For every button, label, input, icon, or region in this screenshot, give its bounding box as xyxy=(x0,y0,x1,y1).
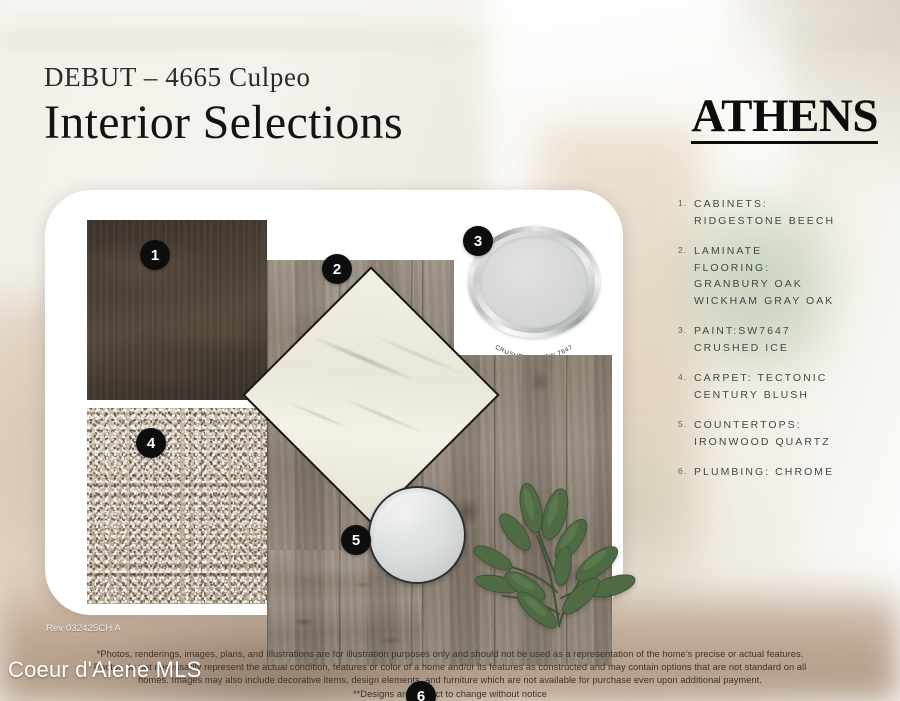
page-title: Interior Selections xyxy=(44,95,403,150)
selections-legend: 1.CABINETS:RIDGESTONE BEECH2.LAMINATEFLO… xyxy=(678,196,884,495)
project-subtitle: DEBUT – 4665 Culpeo xyxy=(44,62,403,93)
legend-item-2: 2.LAMINATEFLOORING:GRANBURY OAKWICKHAM G… xyxy=(678,243,884,309)
mls-watermark: Coeur d'Alene MLS xyxy=(8,657,201,683)
legend-item-label: PAINT:SW7647 xyxy=(694,323,884,340)
legend-item-3: 3.PAINT:SW7647CRUSHED ICE xyxy=(678,323,884,356)
legend-item-label: COUNTERTOPS: xyxy=(694,417,884,434)
legend-item-label: RIDGESTONE BEECH xyxy=(694,213,884,230)
legend-item-label: CABINETS: xyxy=(694,196,884,213)
greenery-sprig xyxy=(463,474,653,634)
legend-item-label: WICKHAM GRAY OAK xyxy=(694,293,884,310)
legend-item-label: CRUSHED ICE xyxy=(694,340,884,357)
badge-3[interactable]: 3 xyxy=(463,226,493,256)
legend-item-lines: LAMINATEFLOORING:GRANBURY OAKWICKHAM GRA… xyxy=(694,243,884,309)
swatch-cabinet-ridgestone-beech[interactable] xyxy=(87,220,267,400)
legend-item-number: 3. xyxy=(678,323,694,356)
paint-can-label-text: CRUSHED ICE SW 7647 xyxy=(494,344,575,355)
legend-item-number: 1. xyxy=(678,196,694,229)
swatch-carpet-tectonic-century-blush[interactable] xyxy=(87,408,267,604)
legend-item-label: FLOORING: xyxy=(694,260,884,277)
legend-item-lines: CABINETS:RIDGESTONE BEECH xyxy=(694,196,884,229)
material-board: CRUSHED ICE SW 7647 xyxy=(45,190,623,615)
legend-item-number: 6. xyxy=(678,464,694,481)
legend-item-1: 1.CABINETS:RIDGESTONE BEECH xyxy=(678,196,884,229)
legend-item-number: 2. xyxy=(678,243,694,309)
material-board-inner: CRUSHED ICE SW 7647 xyxy=(67,212,601,593)
swatch-chrome-plumbing[interactable] xyxy=(368,486,466,584)
legend-item-lines: CARPET: TECTONICCENTURY BLUSH xyxy=(694,370,884,403)
revision-label: Rev 032425CH A xyxy=(46,623,121,634)
legend-item-number: 4. xyxy=(678,370,694,403)
legend-item-lines: COUNTERTOPS:IRONWOOD QUARTZ xyxy=(694,417,884,450)
paint-can-color-fill xyxy=(480,236,588,328)
brand-logo: ATHENS xyxy=(691,94,878,144)
legend-item-label: CARPET: TECTONIC xyxy=(694,370,884,387)
legend-item-number: 5. xyxy=(678,417,694,450)
brand-name: ATHENS xyxy=(691,94,878,139)
legend-item-label: PLUMBING: CHROME xyxy=(694,464,884,481)
legend-item-lines: PAINT:SW7647CRUSHED ICE xyxy=(694,323,884,356)
svg-text:CRUSHED ICE SW 7647: CRUSHED ICE SW 7647 xyxy=(494,344,575,355)
badge-5[interactable]: 5 xyxy=(341,525,371,555)
paint-can-label: CRUSHED ICE SW 7647 xyxy=(462,324,606,342)
badge-4[interactable]: 4 xyxy=(136,428,166,458)
disclaimer-line: **Designs are subject to change without … xyxy=(40,688,860,701)
page-header: DEBUT – 4665 Culpeo Interior Selections xyxy=(44,62,403,150)
legend-item-label: CENTURY BLUSH xyxy=(694,387,884,404)
legend-item-label: GRANBURY OAK xyxy=(694,276,884,293)
legend-item-lines: PLUMBING: CHROME xyxy=(694,464,884,481)
legend-item-4: 4.CARPET: TECTONICCENTURY BLUSH xyxy=(678,370,884,403)
legend-item-5: 5.COUNTERTOPS:IRONWOOD QUARTZ xyxy=(678,417,884,450)
legend-item-label: IRONWOOD QUARTZ xyxy=(694,434,884,451)
badge-2[interactable]: 2 xyxy=(322,254,352,284)
badge-1[interactable]: 1 xyxy=(140,240,170,270)
legend-item-6: 6.PLUMBING: CHROME xyxy=(678,464,884,481)
legend-item-label: LAMINATE xyxy=(694,243,884,260)
